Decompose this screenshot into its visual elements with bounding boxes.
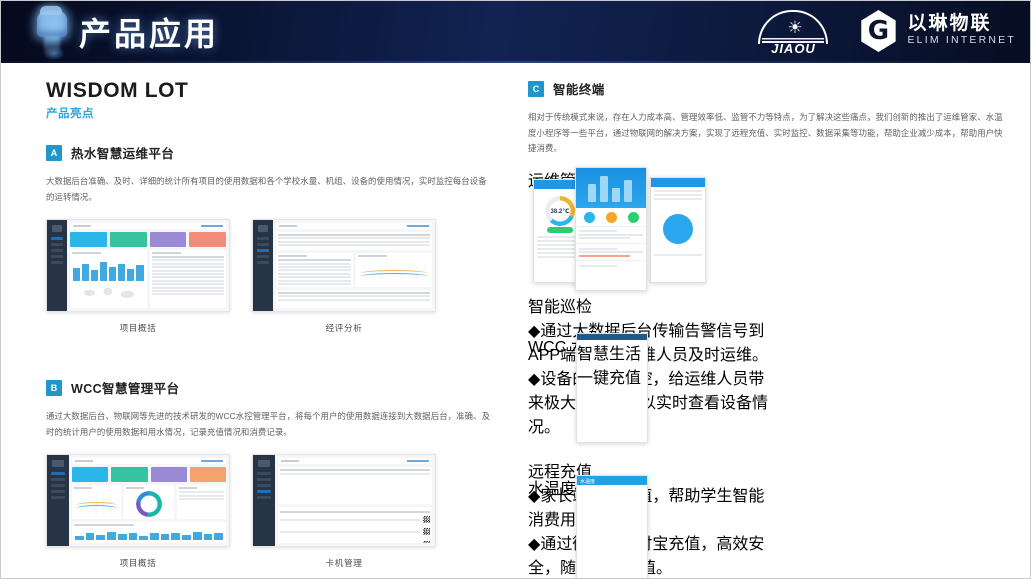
terminal-group-3: 水温度 水温度 智慧洗浴 ◆通过蓝牙实时连接，帮助用户一键智能用水 [528, 475, 1004, 579]
elim-logo: G 以琳物联 ELIM INTERNET [858, 10, 1016, 52]
isometric-illustration [576, 168, 646, 208]
section-badge-a: A [46, 145, 62, 161]
screenshot-row-b: 项目概括 [46, 454, 490, 569]
banner-title: 产品应用 [79, 9, 219, 55]
section-title-c: 智能终端 [553, 79, 605, 98]
terminal-group-1: 38.2℃ [528, 167, 1004, 327]
section-header-c: C 智能终端 [528, 79, 1004, 98]
jiaou-sun-icon: ☀ [776, 20, 810, 35]
elim-g-letter: G [868, 18, 889, 44]
poster-line2: 一键充值 [577, 370, 641, 387]
elim-name-en: ELIM INTERNET [907, 34, 1016, 48]
page-title: WISDOM LOT [46, 79, 490, 103]
phone-screen-detail[interactable] [650, 177, 706, 283]
jiaou-logo-text: JIAOU [754, 41, 832, 56]
phone-screen-water-temp[interactable]: 水温度 [576, 475, 648, 579]
phone-mockups-3: 水温度 水温度 [528, 475, 728, 579]
mock-content [275, 455, 435, 546]
section-desc-c: 相对于传统模式来说，存在人力成本高、管理效率低、监管不力等特点，为了解决这些痛点… [528, 110, 1004, 157]
screenshot-caption: 项目概括 [46, 322, 230, 334]
logo-group: ☀ JIAOU G 以琳物联 ELIM INTERNET [754, 8, 1016, 54]
product-application-page: 产品应用 ☀ JIAOU G 以琳物联 ELIM INTERNET [0, 0, 1031, 579]
phone-screen-title: 水温度 [577, 476, 647, 485]
poster-illustration: 智慧生活 一键充值 [577, 340, 647, 388]
poster-line1: 智慧生活 [577, 346, 641, 363]
mock-sidebar [47, 220, 67, 311]
section-desc-a: 大数据后台准确、及时、详细的统计所有项目的使用数据和各个学校水量、机组、设备的使… [46, 174, 490, 205]
page-subtitle: 产品亮点 [46, 105, 490, 121]
screenshot-row-a: 项目概括 [46, 219, 490, 334]
mock-content [67, 220, 229, 311]
elim-logo-text: 以琳物联 ELIM INTERNET [907, 14, 1016, 48]
phone-mockups-2: 智慧生活 一键充值 WCC 水控管理 [528, 333, 728, 458]
screenshot-item[interactable]: 项目概括 [46, 219, 230, 334]
mock-sidebar [47, 455, 69, 546]
section-title-a: 热水智慧运维平台 [71, 143, 174, 162]
mock-content [69, 455, 229, 546]
screenshot-caption: 卡机管理 [252, 557, 436, 569]
elim-name-cn: 以琳物联 [907, 14, 1016, 34]
screenshot-caption: 项目概括 [46, 557, 230, 569]
dashboard-screenshot-overview[interactable] [46, 219, 230, 312]
section-header-b: B WCC智慧管理平台 [46, 378, 490, 397]
terminal-group-2: 智慧生活 一键充值 WCC 水控管理 远程充值 [528, 333, 1004, 473]
section-title-b: WCC智慧管理平台 [71, 378, 179, 397]
section-desc-b: 通过大数据后台、物联网等先进的技术研发的WCC水控管理平台，将每个用户的使用数据… [46, 409, 490, 440]
screenshot-caption: 经评分析 [252, 322, 436, 334]
phone-mockups-1: 38.2℃ [528, 167, 728, 293]
section-badge-b: B [46, 380, 62, 396]
mock-content [273, 220, 435, 311]
dashboard-screenshot-analysis[interactable] [252, 219, 436, 312]
section-header-a: A 热水智慧运维平台 [46, 143, 490, 162]
mock-sidebar [253, 455, 275, 546]
phone-screen-ops-manager[interactable] [575, 167, 647, 291]
left-column: WISDOM LOT 产品亮点 A 热水智慧运维平台 大数据后台准确、及时、详细… [1, 63, 520, 579]
mock-sidebar [253, 220, 273, 311]
elim-hexagon-icon: G [858, 10, 898, 52]
page-banner: 产品应用 ☀ JIAOU G 以琳物联 ELIM INTERNET [1, 1, 1030, 63]
fist-icon [23, 3, 85, 63]
screenshot-item[interactable]: 经评分析 [252, 219, 436, 334]
phone-screen-wcc[interactable]: 智慧生活 一键充值 [576, 333, 648, 443]
wcc-screenshot-card-machine[interactable] [252, 454, 436, 547]
screenshot-item[interactable]: 卡机管理 [252, 454, 436, 569]
wcc-screenshot-overview[interactable] [46, 454, 230, 547]
page-content: WISDOM LOT 产品亮点 A 热水智慧运维平台 大数据后台准确、及时、详细… [1, 63, 1030, 579]
right-column: C 智能终端 相对于传统模式来说，存在人力成本高、管理效率低、监管不力等特点，为… [520, 63, 1030, 579]
feature-title: 智能巡检 [528, 293, 778, 317]
jiaou-logo: ☀ JIAOU [754, 8, 832, 54]
screenshot-item[interactable]: 项目概括 [46, 454, 230, 569]
section-badge-c: C [528, 81, 544, 97]
